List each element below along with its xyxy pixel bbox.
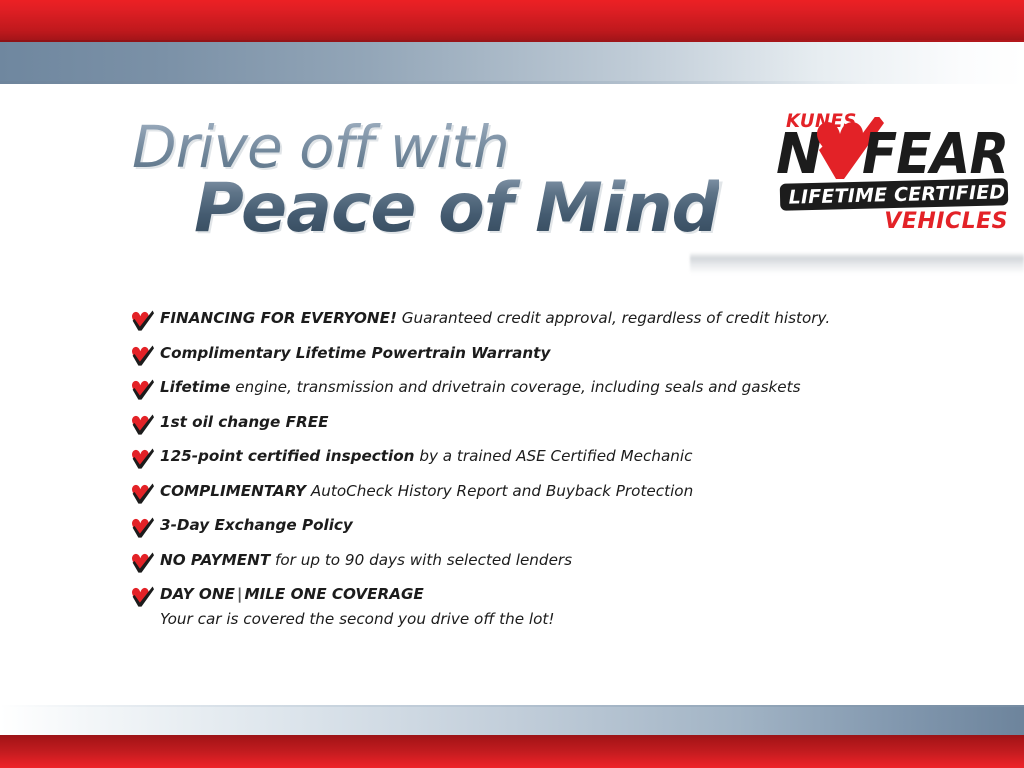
list-item: Complimentary Lifetime Powertrain Warran… bbox=[130, 343, 990, 367]
benefits-list: FINANCING FOR EVERYONE! Guaranteed credi… bbox=[130, 308, 990, 630]
heart-check-bullet-icon bbox=[130, 414, 154, 436]
list-item: 125-point certified inspection by a trai… bbox=[130, 446, 990, 470]
list-item: 1st oil change FREE bbox=[130, 412, 990, 436]
list-item-bold: Lifetime bbox=[160, 378, 230, 396]
list-item-text: 3-Day Exchange Policy bbox=[160, 515, 353, 535]
list-item-bold: 3-Day Exchange Policy bbox=[160, 516, 353, 534]
heart-check-bullet-icon bbox=[130, 448, 154, 470]
list-item-text: Complimentary Lifetime Powertrain Warran… bbox=[160, 343, 550, 363]
list-item: Lifetime engine, transmission and drivet… bbox=[130, 377, 990, 401]
list-item: COMPLIMENTARY AutoCheck History Report a… bbox=[130, 481, 990, 505]
list-item-bold: 1st oil change FREE bbox=[160, 413, 328, 431]
list-item-rest: AutoCheck History Report and Buyback Pro… bbox=[306, 482, 693, 500]
heart-check-bullet-icon bbox=[130, 310, 154, 332]
list-item: 3-Day Exchange Policy bbox=[130, 515, 990, 539]
heart-check-bullet-icon bbox=[130, 345, 154, 367]
bottom-red-stripe bbox=[0, 735, 1024, 768]
headline-line-1: Drive off with bbox=[132, 118, 509, 176]
kunes-no-fear-logo: KUNES N FEAR LIFETIME CERTIFIED VEHICLES bbox=[776, 110, 1012, 240]
list-item-text: 125-point certified inspection by a trai… bbox=[160, 446, 692, 466]
list-item-text: 1st oil change FREE bbox=[160, 412, 328, 432]
heart-check-bullet-icon bbox=[130, 483, 154, 505]
list-item-text: DAY ONE|MILE ONE COVERAGE bbox=[160, 584, 424, 604]
heart-check-bullet-icon bbox=[130, 552, 154, 574]
list-item-subtext: Your car is covered the second you drive… bbox=[160, 609, 990, 630]
list-item-rest: for up to 90 days with selected lenders bbox=[270, 551, 572, 569]
list-item-bold: DAY ONE bbox=[160, 585, 235, 603]
heart-check-bullet-icon bbox=[130, 379, 154, 401]
top-gray-stripe bbox=[0, 42, 1024, 84]
list-item-rest: engine, transmission and drivetrain cove… bbox=[230, 378, 800, 396]
list-item-bold: Complimentary Lifetime Powertrain Warran… bbox=[160, 344, 550, 362]
list-item-rest: Guaranteed credit approval, regardless o… bbox=[397, 309, 830, 327]
bottom-gray-stripe bbox=[0, 705, 1024, 735]
top-banner bbox=[0, 0, 1024, 85]
headline-line-1-wrap: Drive off with Drive off with bbox=[132, 118, 509, 176]
heart-check-bullet-icon bbox=[130, 517, 154, 539]
list-item-rest: by a trained ASE Certified Mechanic bbox=[415, 447, 693, 465]
logo-no-fear-wordmark: N FEAR bbox=[776, 129, 1012, 185]
list-item-bold-2: MILE ONE COVERAGE bbox=[244, 585, 423, 603]
list-item-text: FINANCING FOR EVERYONE! Guaranteed credi… bbox=[160, 308, 830, 328]
list-item-bold: FINANCING FOR EVERYONE! bbox=[160, 309, 397, 327]
list-item: FINANCING FOR EVERYONE! Guaranteed credi… bbox=[130, 308, 990, 332]
headline-line-2-wrap: Peace of Mind Peace of Mind bbox=[132, 176, 719, 246]
list-item: DAY ONE|MILE ONE COVERAGE Your car is co… bbox=[130, 584, 990, 630]
logo-word-vehicles: VEHICLES bbox=[884, 210, 1008, 234]
list-item-bold: 125-point certified inspection bbox=[160, 447, 415, 465]
list-item-main-line: DAY ONE|MILE ONE COVERAGE bbox=[130, 584, 990, 608]
list-item-text: Lifetime engine, transmission and drivet… bbox=[160, 377, 801, 397]
bottom-banner bbox=[0, 690, 1024, 768]
logo-word-fear: FEAR bbox=[862, 127, 1008, 183]
list-item-text: COMPLIMENTARY AutoCheck History Report a… bbox=[160, 481, 693, 501]
list-item-text: NO PAYMENT for up to 90 days with select… bbox=[160, 550, 572, 570]
headline-line-2: Peace of Mind bbox=[194, 172, 719, 246]
header-divider-shadow bbox=[690, 252, 1024, 274]
list-item-bold: COMPLIMENTARY bbox=[160, 482, 306, 500]
list-item: NO PAYMENT for up to 90 days with select… bbox=[130, 550, 990, 574]
top-red-stripe bbox=[0, 0, 1024, 42]
list-item-bold: NO PAYMENT bbox=[160, 551, 270, 569]
heart-check-bullet-icon bbox=[130, 586, 154, 608]
